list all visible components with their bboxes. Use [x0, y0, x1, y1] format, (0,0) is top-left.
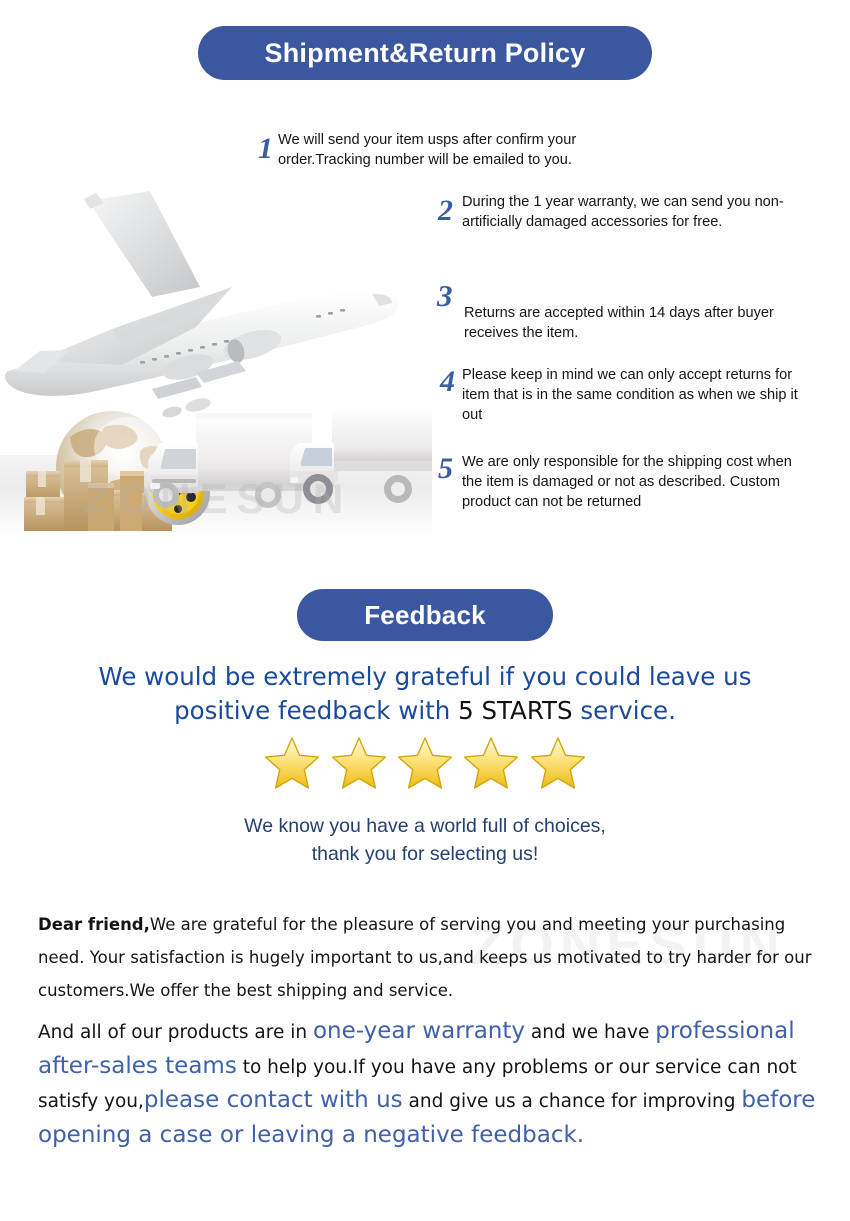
closing-paragraph-1: Dear friend,We are grateful for the plea… [38, 908, 818, 1007]
feedback-line-2-suffix: service. [573, 696, 676, 725]
contact-us-highlight: please contact with us [144, 1087, 403, 1113]
policy-number: 2 [438, 196, 453, 226]
warranty-segment-1: And all of our products are in [38, 1022, 313, 1043]
shipment-return-policy-label: Shipment&Return Policy [265, 38, 586, 69]
feedback-subtext-line-1: We know you have a world full of choices… [0, 812, 850, 840]
policy-text: During the 1 year warranty, we can send … [462, 192, 818, 232]
policy-text: Returns are accepted within 14 days afte… [464, 280, 797, 343]
policy-number: 5 [438, 454, 453, 484]
policy-page: Shipment&Return Policy [0, 0, 850, 1221]
policy-item: 3 Returns are accepted within 14 days af… [437, 280, 797, 343]
feedback-heading: Feedback [297, 589, 553, 641]
policy-item: 2 During the 1 year warranty, we can sen… [438, 192, 818, 232]
feedback-line-2-prefix: positive feedback with [174, 696, 458, 725]
feedback-line-2: positive feedback with 5 STARTS service. [0, 694, 850, 728]
policy-number: 4 [440, 367, 455, 397]
star-icon [530, 736, 586, 790]
airplane-icon [5, 191, 398, 419]
policy-number: 3 [437, 280, 453, 311]
policy-text: We are only responsible for the shipping… [462, 452, 810, 512]
feedback-line-1: We would be extremely grateful if you co… [0, 660, 850, 694]
closing-paragraph-2: And all of our products are in one-year … [38, 1015, 818, 1153]
star-icon [264, 736, 320, 790]
star-icon [331, 736, 387, 790]
policy-item: 1 We will send your item usps after conf… [258, 130, 628, 170]
dear-friend-salutation: Dear friend, [38, 915, 150, 934]
closing-paragraph-1-text: We are grateful for the pleasure of serv… [38, 915, 812, 1000]
star-icon [397, 736, 453, 790]
warranty-segment-4: and give us a chance for improving [403, 1091, 742, 1112]
one-year-warranty-highlight: one-year warranty [313, 1018, 525, 1044]
star-icon [463, 736, 519, 790]
feedback-heading-label: Feedback [364, 600, 486, 631]
policy-item: 4 Please keep in mind we can only accept… [440, 365, 820, 425]
policy-number: 1 [258, 134, 273, 164]
star-rating [0, 736, 850, 790]
feedback-subtext-line-2: thank you for selecting us! [0, 840, 850, 868]
policy-text: Please keep in mind we can only accept r… [462, 365, 820, 425]
warranty-segment-2: and we have [525, 1022, 655, 1043]
shipment-return-policy-heading: Shipment&Return Policy [198, 26, 652, 80]
policy-item: 5 We are only responsible for the shippi… [438, 452, 810, 512]
closing-message: Dear friend,We are grateful for the plea… [38, 908, 818, 1153]
feedback-stars-emphasis: 5 STARTS [458, 696, 573, 725]
illustration-watermark: ZONESUN [8, 475, 428, 523]
policy-text: We will send your item usps after confir… [278, 130, 628, 170]
logistics-illustration: ZONESUN [0, 175, 432, 533]
